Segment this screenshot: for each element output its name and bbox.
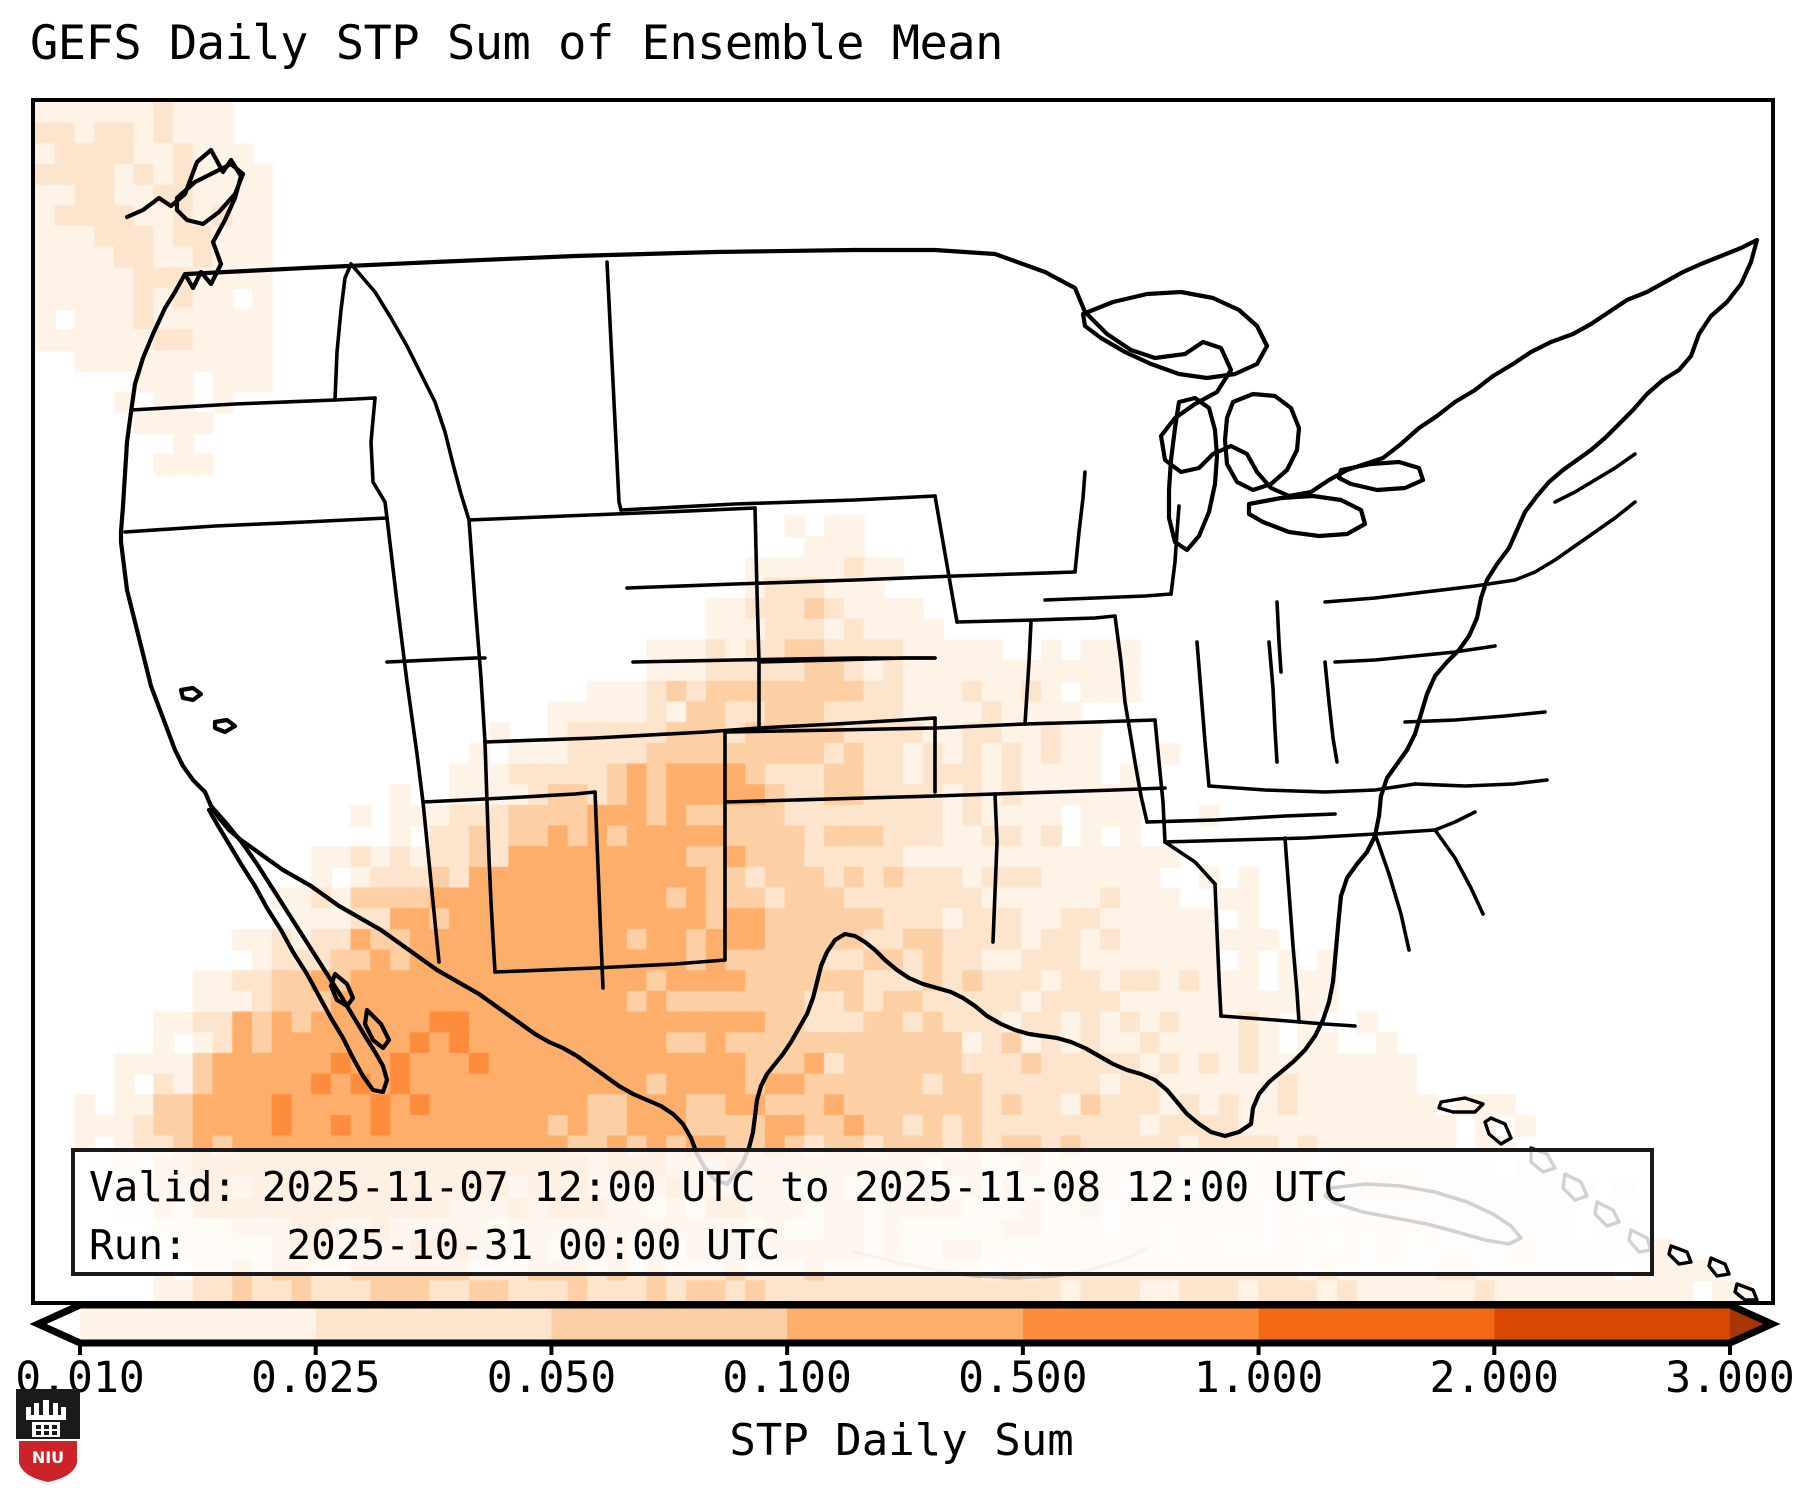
border-pa-md-wv bbox=[1335, 646, 1495, 662]
valid-run-info-box: Valid: 2025-11-07 12:00 UTC to 2025-11-0… bbox=[71, 1148, 1654, 1276]
border-ar-ms bbox=[1155, 720, 1165, 842]
colorbar-band-group bbox=[38, 1305, 1772, 1343]
gulf-coast bbox=[845, 934, 1251, 1136]
border-va-nc bbox=[1415, 780, 1547, 786]
us-mexico-border bbox=[205, 792, 727, 1184]
lake-ontario bbox=[1339, 462, 1423, 490]
border-sc-nc bbox=[1435, 830, 1483, 914]
channel-island-1 bbox=[181, 688, 201, 700]
colorbar-tick-label: 2.000 bbox=[1430, 1353, 1559, 1403]
border-nv-az bbox=[423, 802, 439, 962]
border-ok-tx bbox=[725, 794, 995, 802]
border-mo-il bbox=[1129, 726, 1147, 822]
northern-border-great-lakes bbox=[1045, 240, 1757, 496]
border-ms-al bbox=[1215, 884, 1221, 1016]
baja-california bbox=[209, 806, 387, 1092]
border-nh-me bbox=[1595, 454, 1635, 480]
colorbar-band bbox=[80, 1305, 316, 1343]
turks-caicos bbox=[1709, 1258, 1729, 1276]
colorbar-tick-label: 0.050 bbox=[487, 1353, 616, 1403]
border-az-nm bbox=[595, 792, 603, 988]
page-title: GEFS Daily STP Sum of Ensemble Mean bbox=[30, 16, 1003, 71]
us-canada-border-west bbox=[187, 250, 1045, 274]
border-ga-sc bbox=[1375, 834, 1409, 950]
colorbar-band bbox=[1494, 1305, 1730, 1343]
border-wy-co bbox=[485, 728, 759, 742]
channel-island-2 bbox=[215, 720, 235, 732]
colorbar-axis-label: STP Daily Sum bbox=[0, 1415, 1803, 1466]
border-mn-sd bbox=[935, 496, 957, 622]
border-nd-sd bbox=[621, 496, 935, 510]
colorbar-band bbox=[1259, 1305, 1495, 1343]
colorbar-tick-label: 0.025 bbox=[251, 1353, 380, 1403]
border-ky-tn-north bbox=[1147, 814, 1335, 822]
border-ne-sd-ia bbox=[955, 572, 1075, 576]
run-time-line: Run: 2025-10-31 00:00 UTC bbox=[89, 1216, 1650, 1274]
border-il-in bbox=[1197, 642, 1209, 786]
colorbar-tick-label: 3.000 bbox=[1665, 1353, 1794, 1403]
border-va-wv bbox=[1405, 712, 1545, 722]
border-wa-id bbox=[335, 264, 351, 400]
colorbar-tick-label: 1.000 bbox=[1194, 1353, 1323, 1403]
border-tn-ms-al-ga bbox=[1165, 830, 1435, 842]
border-wi-il-north bbox=[1045, 594, 1171, 600]
colorbar-band bbox=[1023, 1305, 1259, 1343]
border-oh-pa bbox=[1277, 602, 1281, 672]
border-in-oh bbox=[1269, 642, 1277, 762]
logo-text-niu: NIU bbox=[32, 1448, 64, 1467]
colorbar-band bbox=[551, 1305, 787, 1343]
border-al-ga bbox=[1285, 838, 1299, 1022]
border-or-ca bbox=[125, 518, 387, 532]
border-tn-nc bbox=[1435, 812, 1475, 830]
border-ut-az-nm bbox=[485, 742, 495, 972]
border-ia-il bbox=[1115, 616, 1129, 726]
colorbar-tick-label: 0.500 bbox=[958, 1353, 1087, 1403]
texas-coast bbox=[727, 934, 845, 1184]
border-co-ks bbox=[759, 718, 935, 728]
colorbar-band bbox=[316, 1305, 552, 1343]
border-ks-mo bbox=[1025, 622, 1031, 724]
colorbar-tick-label: 0.100 bbox=[722, 1353, 851, 1403]
colorbar-swatches[interactable] bbox=[0, 1295, 1803, 1355]
border-wy-sd-ne bbox=[755, 508, 759, 728]
border-wi-mn bbox=[1075, 472, 1085, 572]
coastline-and-border-paths bbox=[121, 150, 1757, 1300]
border-wy-id-ut bbox=[469, 520, 485, 742]
border-sd-ne bbox=[627, 576, 955, 588]
border-ma-nh-vt bbox=[1575, 502, 1635, 546]
border-pa-ny bbox=[1325, 580, 1515, 602]
border-mo-ar bbox=[1025, 720, 1155, 724]
border-or-id bbox=[371, 398, 387, 518]
map-geography-layer bbox=[35, 102, 1771, 1301]
colorbar-tick-label-group: 0.0100.0250.0500.1000.5001.0002.0003.000 bbox=[0, 1353, 1803, 1413]
border-ca-az bbox=[423, 792, 595, 802]
border-la-ms bbox=[1165, 842, 1215, 884]
border-wv-va bbox=[1325, 662, 1337, 762]
border-wa-or bbox=[131, 398, 375, 410]
mayaguana bbox=[1669, 1246, 1691, 1264]
border-mt-wy bbox=[469, 508, 755, 520]
colorbar-band bbox=[787, 1305, 1023, 1343]
isla-angel-guarda bbox=[331, 974, 353, 1006]
california-coast bbox=[121, 532, 205, 792]
grand-bahama bbox=[1439, 1098, 1483, 1112]
andros-island bbox=[1485, 1118, 1511, 1144]
colorbar-region[interactable]: 0.0100.0250.0500.1000.5001.0002.0003.000… bbox=[0, 1295, 1803, 1500]
border-nv-ut-south bbox=[387, 658, 485, 662]
valid-time-line: Valid: 2025-11-07 12:00 UTC to 2025-11-0… bbox=[89, 1158, 1650, 1216]
border-id-mt bbox=[351, 264, 469, 520]
border-mt-nd bbox=[607, 262, 621, 510]
border-vt-nh bbox=[1555, 480, 1595, 502]
border-wi-mi bbox=[1171, 506, 1179, 594]
border-tx-la bbox=[993, 794, 997, 942]
border-ny-ct-ma bbox=[1515, 546, 1575, 580]
border-al-fl bbox=[1221, 1016, 1355, 1026]
border-ia-mn bbox=[957, 616, 1115, 622]
map-plot-area[interactable]: Valid: 2025-11-07 12:00 UTC to 2025-11-0… bbox=[31, 98, 1775, 1305]
border-nm-mex bbox=[495, 960, 725, 972]
niu-shield-logo: NIU bbox=[12, 1385, 84, 1489]
lake-erie bbox=[1249, 496, 1365, 536]
